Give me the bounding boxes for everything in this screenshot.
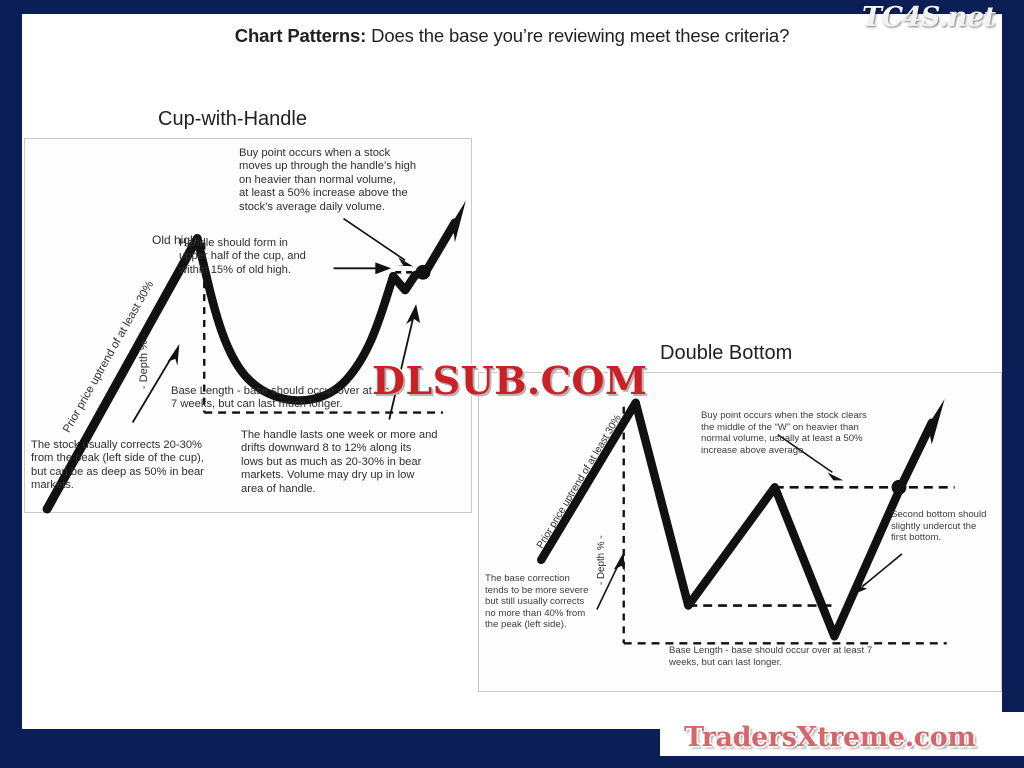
db-buy-point-annotation: Buy point occurs when the stock clears t… [701,410,916,456]
slide-frame: Chart Patterns: Does the base you’re rev… [0,0,1024,768]
tc4s-watermark: TC4S.net [862,2,996,33]
cup-depth-label: - Depth % - [138,333,151,389]
cup-handle-annotation: Handle should form in upper half of the … [179,237,369,277]
cup-with-handle-panel: Old high Prior price uptrend of at least… [24,138,472,513]
db-second-bottom-annotation: Second bottom should slightly undercut t… [891,509,1001,544]
cup-handle-detail-annotation: The handle lasts one week or more and dr… [241,429,471,496]
cup-buy-point-annotation: Buy point occurs when a stock moves up t… [239,147,454,214]
buy-point-marker [416,265,431,280]
handle-leader-arrow [375,262,391,274]
double-bottom-panel: Prior price uptrend of at least 30% - De… [478,372,1002,692]
double-bottom-heading: Double Bottom [660,342,792,365]
db-base-length-annotation: Base Length - base should occur over at … [669,645,929,668]
cup-with-handle-heading: Cup-with-Handle [158,108,307,131]
page-title-bold: Chart Patterns: [235,25,366,46]
db-buy-point-leader-arrow [824,472,843,480]
cup-correction-annotation: The stock usually corrects 20-30% from t… [31,439,246,493]
tradersxtreme-watermark: TradersXtreme.com [684,722,976,753]
dlsub-watermark: DLSUB.COM [372,358,648,403]
db-base-correction-annotation: The base correction tends to be more sev… [485,573,600,631]
page-title-rest: Does the base you’re reviewing meet thes… [366,25,789,46]
db-prior-uptrend-line [541,403,635,560]
